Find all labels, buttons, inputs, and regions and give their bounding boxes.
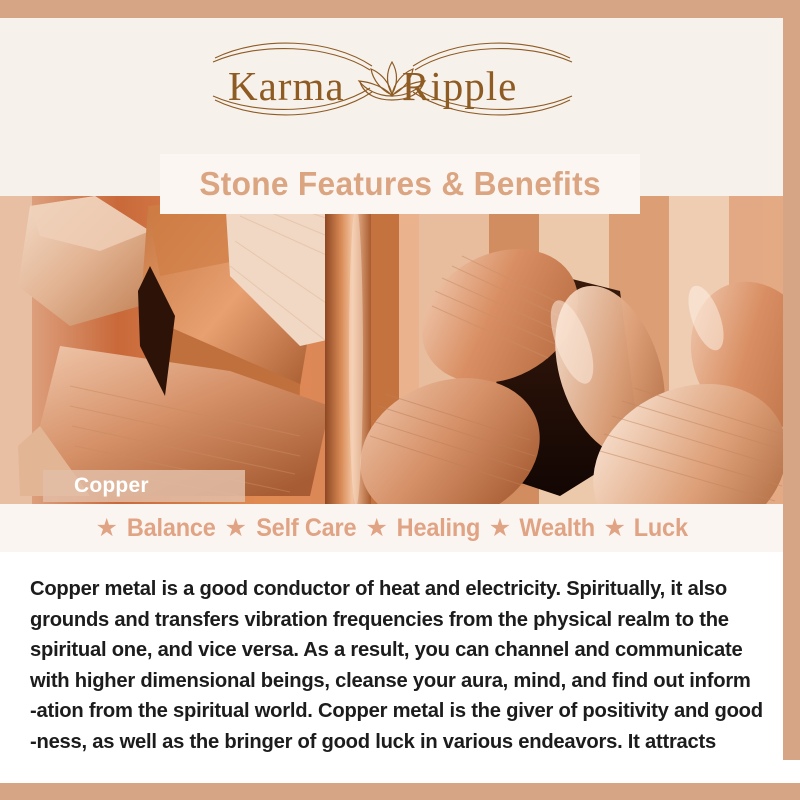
poster-card: Karma Ripple [0, 18, 783, 783]
benefit-item-balance: Balance [127, 514, 216, 543]
description-line: -ness, as well as the bringer of good lu… [30, 727, 759, 758]
brand-name-left: Karma [228, 62, 345, 110]
benefits-bar: ★ Balance ★ Self Care ★ Healing ★ Wealth… [0, 504, 783, 552]
star-icon: ★ [604, 516, 626, 541]
star-icon: ★ [96, 516, 118, 541]
hero-image [0, 196, 783, 504]
description-area: Copper metal is a good conductor of heat… [0, 552, 783, 783]
description-line: Copper metal is a good conductor of heat… [30, 574, 759, 605]
star-icon: ★ [365, 516, 387, 541]
brand-logo: Karma Ripple [0, 18, 783, 138]
description-line: -ation from the spiritual world. Copper … [30, 696, 759, 727]
poster-root: Karma Ripple [0, 0, 800, 800]
benefit-item-healing: Healing [397, 514, 481, 543]
description-line: spiritual one, and vice versa. As a resu… [30, 635, 759, 666]
stone-name-label: Copper [74, 474, 149, 498]
section-title-band: Stone Features & Benefits [160, 154, 640, 214]
star-icon: ★ [489, 516, 511, 541]
star-icon: ★ [224, 516, 246, 541]
page-title: Stone Features & Benefits [199, 165, 601, 203]
logo-ornament-swashes [0, 18, 783, 138]
benefits-list: ★ Balance ★ Self Care ★ Healing ★ Wealth… [92, 514, 692, 543]
benefit-item-self-care: Self Care [256, 514, 356, 543]
benefit-item-luck: Luck [634, 514, 688, 543]
description-line: with higher dimensional beings, cleanse … [30, 666, 759, 697]
brand-name-right: Ripple [402, 62, 517, 110]
bottom-border-band [0, 783, 800, 800]
description-text: Copper metal is a good conductor of heat… [30, 574, 759, 783]
bottom-white-strip [0, 760, 800, 783]
description-line: grounds and transfers vibration frequenc… [30, 605, 759, 636]
stone-name-banner: Copper [43, 470, 245, 502]
benefit-item-wealth: Wealth [520, 514, 595, 543]
